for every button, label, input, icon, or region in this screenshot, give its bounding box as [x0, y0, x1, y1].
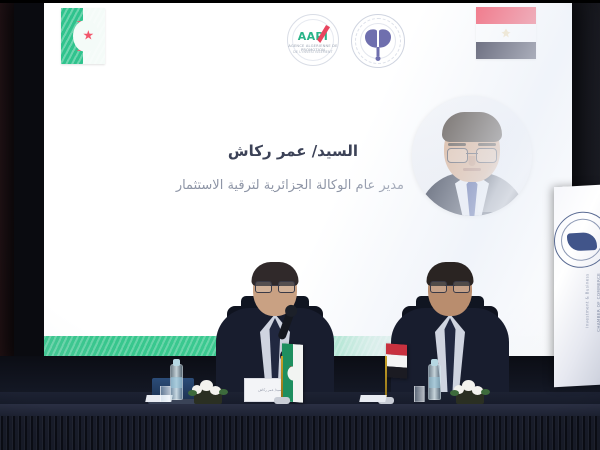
banner-line-1: CHAMBER OF COMMERCE [596, 273, 600, 332]
table-skirt [0, 416, 600, 450]
aapi-logo-subtitle2: DE L'INVESTISSEMENT [287, 50, 339, 54]
egypt-flag-icon [476, 7, 536, 59]
egypt-flag-icon [386, 343, 407, 378]
star-icon: ★ [82, 30, 94, 43]
desk-flag-algeria [278, 344, 304, 402]
desk-flag-egypt [382, 344, 408, 402]
speaker-portrait [412, 96, 532, 216]
open-book-icon [365, 29, 391, 49]
slide-speaker-role: مدير عام الوكالة الجزائرية لترقية الاستث… [176, 178, 404, 193]
drinking-glass [414, 386, 425, 402]
slide-speaker-name: السيد/ عمر ركاش [228, 142, 358, 160]
water-bottle [428, 364, 441, 400]
banner-line-2: Investment & Business [584, 273, 589, 328]
water-bottle [170, 364, 183, 400]
eyeglasses-icon [430, 281, 470, 292]
conference-photo-scene: ★ AAPI AGENCE ALGERIENNE DE PROMOTION DE… [0, 0, 600, 450]
algeria-flag-icon [282, 343, 303, 402]
roll-up-banner: CHAMBER OF COMMERCE Investment & Busines… [554, 185, 600, 387]
drinking-glass [160, 386, 171, 402]
chamber-emblem-icon [554, 210, 600, 269]
aapi-logo-text: AAPI [287, 30, 339, 43]
flower-arrangement [450, 374, 490, 404]
documents [359, 395, 386, 402]
flower-arrangement [188, 374, 228, 404]
ministry-seal-logo [351, 14, 405, 68]
algeria-flag-icon: ★ [61, 8, 105, 64]
eyeglasses-icon [255, 281, 295, 292]
aapi-logo: AAPI AGENCE ALGERIENNE DE PROMOTION DE L… [287, 14, 339, 66]
eagle-icon [502, 28, 511, 37]
